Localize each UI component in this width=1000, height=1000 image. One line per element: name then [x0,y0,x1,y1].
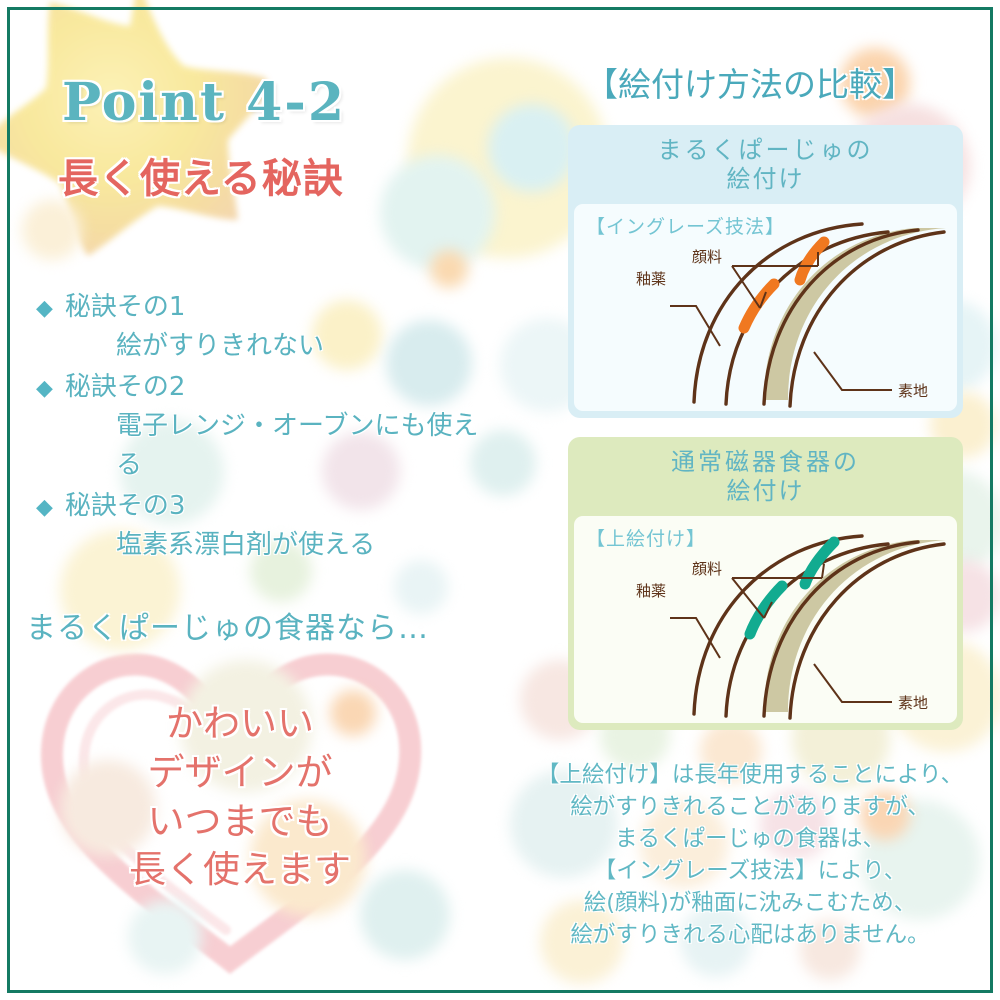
footnote-line: 【上絵付け】は長年使用することにより、 [500,760,1000,792]
footnote-line: まるくぱーじゅの食器は、 [500,824,1000,856]
list-item: ◆ 秘訣その2 電子レンジ・オーブンにも使える [36,368,496,485]
card-title-line2: 絵付け [574,477,957,506]
diamond-bullet-icon: ◆ [36,372,53,405]
secret-heading: ◆ 秘訣その3 [36,487,496,526]
label-body: 素地 [898,694,928,712]
list-item: ◆ 秘訣その1 絵がすりきれない [36,288,496,366]
page-subtitle: 長く使える秘訣 [58,146,344,204]
closing-line: いつまでも [0,798,480,847]
secret-body-text: 塩素系漂白剤が使える [36,526,496,565]
secret-body-text: 電子レンジ・オーブンにも使える [36,407,496,485]
footnote-line: 絵がすりきれることがありますが、 [500,792,1000,824]
secret-heading-label: 秘訣その3 [65,487,186,526]
secret-body-text: 絵がすりきれない [36,327,496,366]
closing-line: デザインが [0,749,480,798]
label-glaze: 釉薬 [636,270,666,288]
ceramic-body-band [764,540,946,712]
list-item: ◆ 秘訣その3 塩素系漂白剤が使える [36,487,496,565]
card-body: 【イングレーズ技法】 [574,204,957,411]
card-body: 【上絵付け】 [574,516,957,723]
diamond-bullet-icon: ◆ [36,491,53,524]
card-normal-porcelain-painting: 通常磁器食器の 絵付け 【上絵付け】 [568,437,963,730]
footnote-line: 【イングレーズ技法】により、 [500,856,1000,888]
footnote-paragraph: 【上絵付け】は長年使用することにより、 絵がすりきれることがありますが、 まるく… [500,760,1000,952]
label-pigment: 顔料 [692,248,722,266]
secret-heading-label: 秘訣その1 [65,288,186,327]
label-body: 素地 [898,382,928,400]
right-column: 【絵付け方法の比較】 まるくぱーじゅの 絵付け 【イングレーズ技法】 [500,0,1000,1000]
comparison-heading: 【絵付け方法の比較】 [500,58,1000,106]
card-title: まるくぱーじゅの 絵付け [568,125,963,204]
card-title: 通常磁器食器の 絵付け [568,437,963,516]
card-title-line1: まるくぱーじゅの [574,136,957,165]
card-title-line1: 通常磁器食器の [574,448,957,477]
secrets-list: ◆ 秘訣その1 絵がすりきれない ◆ 秘訣その2 電子レンジ・オーブンにも使える… [36,288,496,567]
diamond-bullet-icon: ◆ [36,292,53,325]
secret-heading-label: 秘訣その2 [65,368,186,407]
footnote-line: 絵がすりきれる心配はありません。 [500,920,1000,952]
label-glaze: 釉薬 [636,582,666,600]
overglaze-diagram: 釉薬 顔料 素地 [574,516,957,723]
card-title-line2: 絵付け [574,165,957,194]
ceramic-body-band [764,228,946,400]
card-marcpage-painting: まるくぱーじゅの 絵付け 【イングレーズ技法】 [568,125,963,418]
closing-statement: かわいい デザインが いつまでも 長く使えます [0,700,480,895]
lead-in-text: まるくぱーじゅの食器なら… [26,603,429,647]
secret-heading: ◆ 秘訣その1 [36,288,496,327]
infographic-page: Point 4-2 長く使える秘訣 ◆ 秘訣その1 絵がすりきれない ◆ 秘訣そ… [0,0,1000,1000]
closing-line: 長く使えます [0,846,480,895]
secret-heading: ◆ 秘訣その2 [36,368,496,407]
closing-line: かわいい [0,700,480,749]
footnote-line: 絵(顔料)が釉面に沈みこむため、 [500,888,1000,920]
left-column: Point 4-2 長く使える秘訣 ◆ 秘訣その1 絵がすりきれない ◆ 秘訣そ… [0,0,500,1000]
page-title: Point 4-2 [62,72,346,133]
inglaze-diagram: 釉薬 顔料 素地 [574,204,957,411]
label-pigment: 顔料 [692,560,722,578]
